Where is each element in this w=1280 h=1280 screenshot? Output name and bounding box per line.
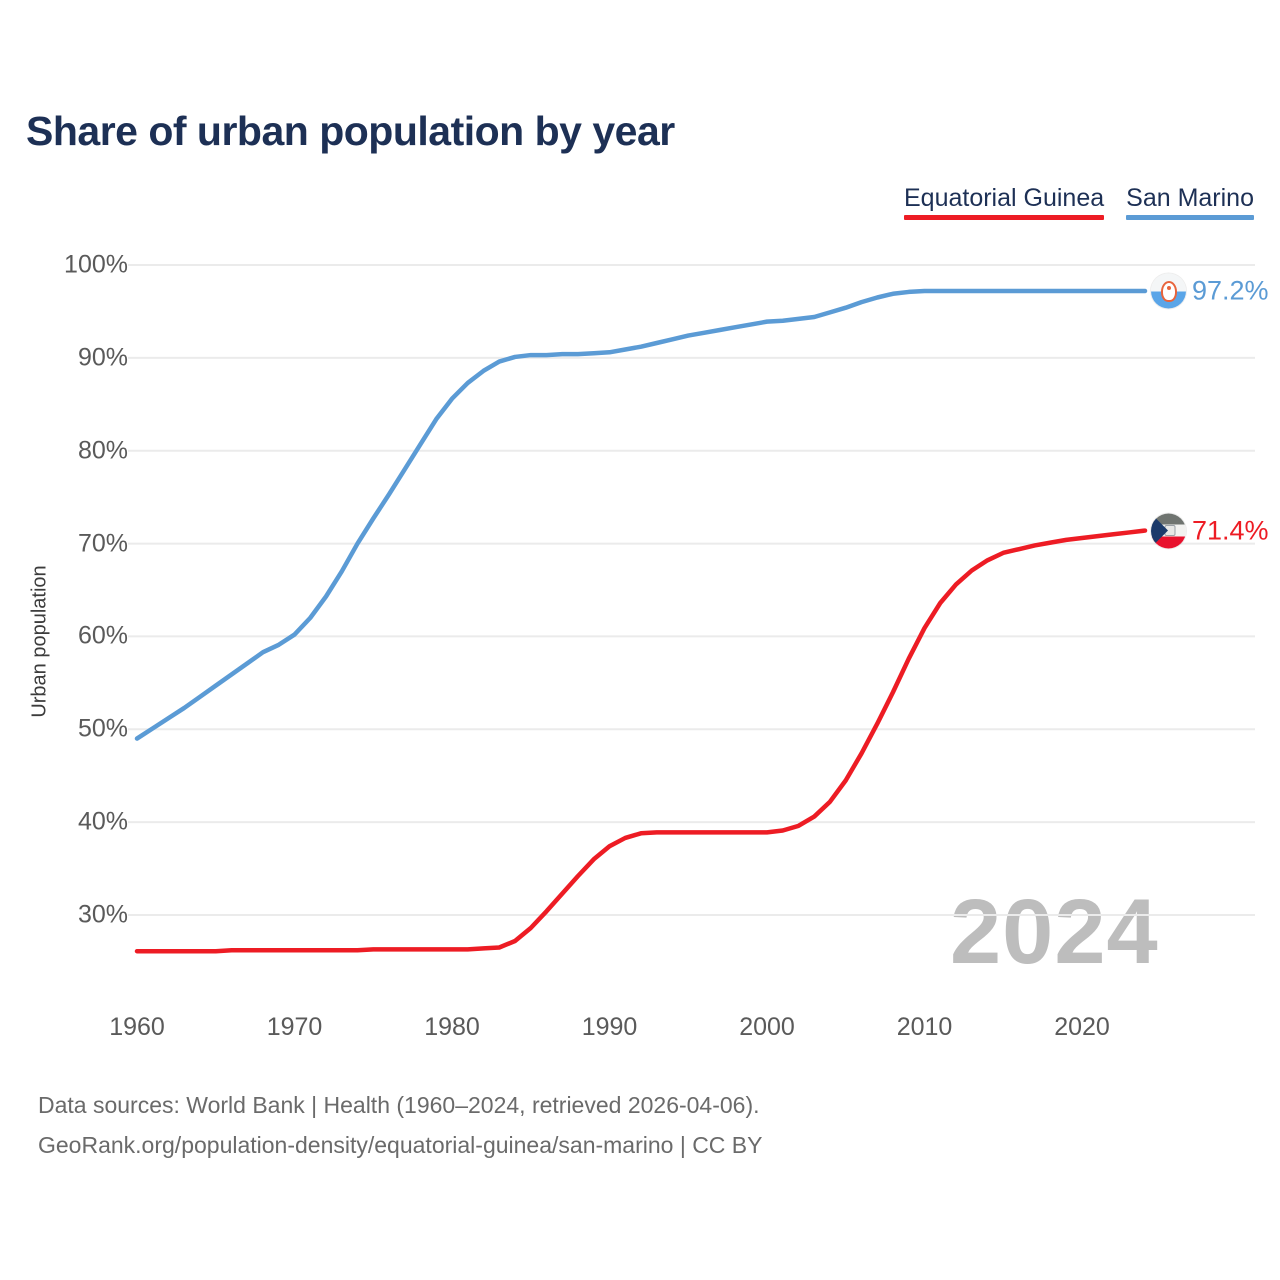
endpoint-value-equatorial-guinea: 71.4% (1192, 515, 1269, 546)
x-tick-label: 2000 (739, 1013, 795, 1042)
x-tick-label: 1970 (267, 1013, 323, 1042)
y-tick-label: 50% (78, 715, 128, 744)
x-tick-label: 1980 (424, 1013, 480, 1042)
x-tick-label: 2020 (1054, 1013, 1110, 1042)
endpoint-san-marino[interactable]: 97.2% (1151, 274, 1269, 309)
legend-label-san-marino: San Marino (1126, 183, 1254, 213)
chart-legend: Equatorial Guinea San Marino (904, 183, 1254, 220)
san-marino-flag-icon (1151, 274, 1186, 309)
footer-line-1: Data sources: World Bank | Health (1960–… (38, 1085, 763, 1125)
legend-label-equatorial-guinea: Equatorial Guinea (904, 183, 1104, 213)
y-tick-label: 90% (78, 343, 128, 372)
endpoint-equatorial-guinea[interactable]: 71.4% (1151, 513, 1269, 548)
x-tick-label: 1960 (109, 1013, 165, 1042)
legend-item-equatorial-guinea[interactable]: Equatorial Guinea (904, 183, 1104, 220)
x-tick-label: 2010 (897, 1013, 953, 1042)
y-tick-label: 70% (78, 529, 128, 558)
y-tick-label: 60% (78, 622, 128, 651)
legend-color-swatch-equatorial-guinea (904, 215, 1104, 220)
legend-item-san-marino[interactable]: San Marino (1126, 183, 1254, 220)
endpoint-value-san-marino: 97.2% (1192, 276, 1269, 307)
y-tick-label: 40% (78, 808, 128, 837)
gridlines (128, 265, 1255, 915)
series-line-san-marino (137, 291, 1145, 739)
series-lines (137, 291, 1145, 951)
y-tick-label: 80% (78, 436, 128, 465)
y-tick-label: 100% (64, 251, 128, 280)
y-axis-title: Urban population (29, 542, 52, 742)
y-tick-label: 30% (78, 901, 128, 930)
equatorial-guinea-flag-icon (1151, 513, 1186, 548)
page-title: Share of urban population by year (26, 108, 675, 155)
legend-color-swatch-san-marino (1126, 215, 1254, 220)
chart-page: Share of urban population by year Equato… (0, 0, 1280, 1280)
x-tick-label: 1990 (582, 1013, 638, 1042)
footer-line-2: GeoRank.org/population-density/equatoria… (38, 1125, 763, 1165)
footer-sources: Data sources: World Bank | Health (1960–… (38, 1085, 763, 1165)
year-watermark: 2024 (950, 880, 1159, 985)
